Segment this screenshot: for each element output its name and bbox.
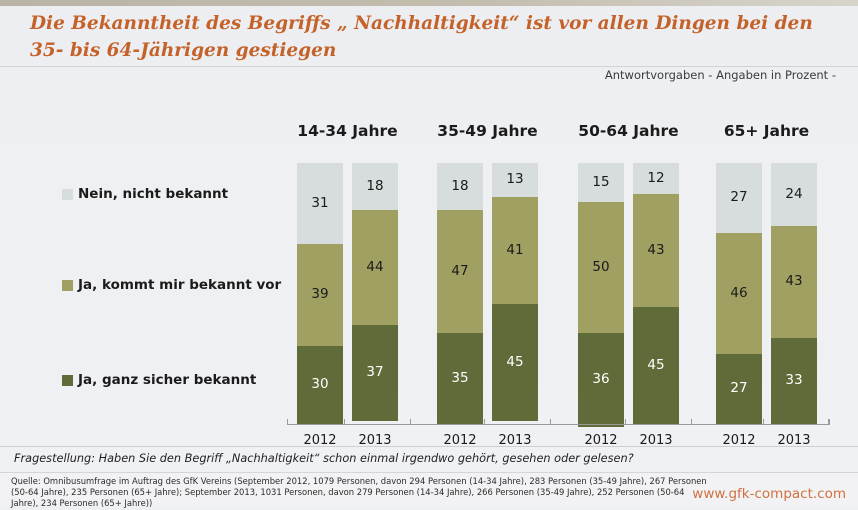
bar-segment[interactable]: 41 [492, 197, 538, 304]
bar-segment-value: 43 [647, 244, 664, 258]
group-header: 14-34 Jahre [278, 122, 418, 140]
bar-segment[interactable]: 47 [437, 210, 483, 333]
bar-segment-value: 31 [311, 197, 328, 211]
legend-swatch-icon [62, 375, 73, 386]
x-axis-tick [829, 419, 830, 425]
bar-segment-value: 27 [730, 382, 747, 396]
source-text: Quelle: Omnibusumfrage im Auftrag des Gf… [11, 476, 711, 510]
bar-segment[interactable]: 43 [633, 194, 679, 306]
bar-segment[interactable]: 24 [771, 163, 817, 226]
site-logo: www.gfk-compact.com [692, 486, 846, 502]
bar-segment-value: 39 [311, 288, 328, 302]
bar-segment-value: 45 [506, 356, 523, 370]
stacked-bar[interactable]: 184735 [437, 163, 483, 424]
bar-segment-value: 12 [647, 172, 664, 186]
legend-item[interactable]: Nein, nicht bekannt [62, 186, 228, 202]
stacked-bar[interactable]: 274627 [716, 163, 762, 424]
legend-item[interactable]: Ja, ganz sicher bekannt [62, 372, 256, 388]
stacked-bar[interactable]: 244333 [771, 163, 817, 424]
bar-segment-value: 24 [785, 188, 802, 202]
x-axis-tick [344, 419, 345, 425]
bar-segment[interactable]: 18 [352, 163, 398, 210]
bar-segment[interactable]: 39 [297, 244, 343, 346]
bar-segment-value: 27 [730, 191, 747, 205]
bar-segment[interactable]: 36 [578, 333, 624, 427]
bar-segment[interactable]: 43 [771, 226, 817, 338]
x-axis-tick [691, 419, 692, 425]
bar-segment-value: 18 [451, 180, 468, 194]
stacked-bar[interactable]: 124345 [633, 163, 679, 424]
x-axis-tick [763, 419, 764, 425]
x-axis-tick [410, 419, 411, 425]
legend-item[interactable]: Ja, kommt mir bekannt vor [62, 277, 281, 293]
group-header: 35-49 Jahre [418, 122, 558, 140]
x-axis-tick [625, 419, 626, 425]
stacked-bar[interactable]: 184437 [352, 163, 398, 424]
bar-segment[interactable]: 44 [352, 210, 398, 325]
bar-segment[interactable]: 27 [716, 163, 762, 233]
legend-swatch-icon [62, 280, 73, 291]
bar-segment[interactable]: 31 [297, 163, 343, 244]
bar-segment[interactable]: 27 [716, 354, 762, 424]
group-header: 65+ Jahre [697, 122, 837, 140]
bar-segment[interactable]: 50 [578, 202, 624, 333]
bar-segment-value: 45 [647, 359, 664, 373]
x-axis-line [287, 424, 829, 425]
stacked-bar[interactable]: 134145 [492, 163, 538, 424]
legend-label: Nein, nicht bekannt [78, 186, 228, 202]
bar-segment[interactable]: 45 [492, 304, 538, 421]
x-axis-tick [828, 419, 829, 425]
bar-segment-value: 37 [366, 366, 383, 380]
slide-canvas: Die Bekanntheit des Begriffs „ Nachhalti… [0, 0, 858, 506]
bar-segment-value: 30 [311, 378, 328, 392]
bar-segment-value: 15 [592, 176, 609, 190]
bar-segment[interactable]: 35 [437, 333, 483, 424]
question-text: Fragestellung: Haben Sie den Begriff „Na… [14, 452, 634, 465]
bar-segment-value: 44 [366, 261, 383, 275]
bar-segment[interactable]: 37 [352, 325, 398, 422]
legend-label: Ja, kommt mir bekannt vor [78, 277, 281, 293]
x-axis-tick [484, 419, 485, 425]
bar-segment[interactable]: 30 [297, 346, 343, 424]
legend-swatch-icon [62, 189, 73, 200]
stacked-bar[interactable]: 313930 [297, 163, 343, 424]
bar-segment-value: 35 [451, 372, 468, 386]
x-axis-tick [550, 419, 551, 425]
bar-segment[interactable]: 13 [492, 163, 538, 197]
bar-segment[interactable]: 18 [437, 163, 483, 210]
chart-subtitle: Antwortvorgaben - Angaben in Prozent - [605, 68, 836, 82]
bar-segment[interactable]: 15 [578, 163, 624, 202]
group-header: 50-64 Jahre [559, 122, 699, 140]
bar-segment-value: 46 [730, 287, 747, 301]
title-divider [0, 66, 858, 67]
bar-segment-value: 50 [592, 261, 609, 275]
top-decorative-strip [0, 0, 858, 6]
footer-divider [0, 446, 858, 447]
legend-label: Ja, ganz sicher bekannt [78, 372, 256, 388]
bar-segment-value: 18 [366, 180, 383, 194]
bar-segment-value: 33 [785, 374, 802, 388]
bar-segment-value: 13 [506, 173, 523, 187]
page-title: Die Bekanntheit des Begriffs „ Nachhalti… [30, 10, 820, 64]
bar-segment-value: 41 [506, 244, 523, 258]
bar-segment-value: 36 [592, 373, 609, 387]
bar-segment[interactable]: 12 [633, 163, 679, 194]
bar-segment[interactable]: 45 [633, 307, 679, 424]
bar-segment[interactable]: 33 [771, 338, 817, 424]
bar-segment-value: 43 [785, 275, 802, 289]
stacked-bar[interactable]: 155036 [578, 163, 624, 424]
bar-segment[interactable]: 46 [716, 233, 762, 353]
bar-segment-value: 47 [451, 265, 468, 279]
x-axis-tick [287, 419, 288, 425]
